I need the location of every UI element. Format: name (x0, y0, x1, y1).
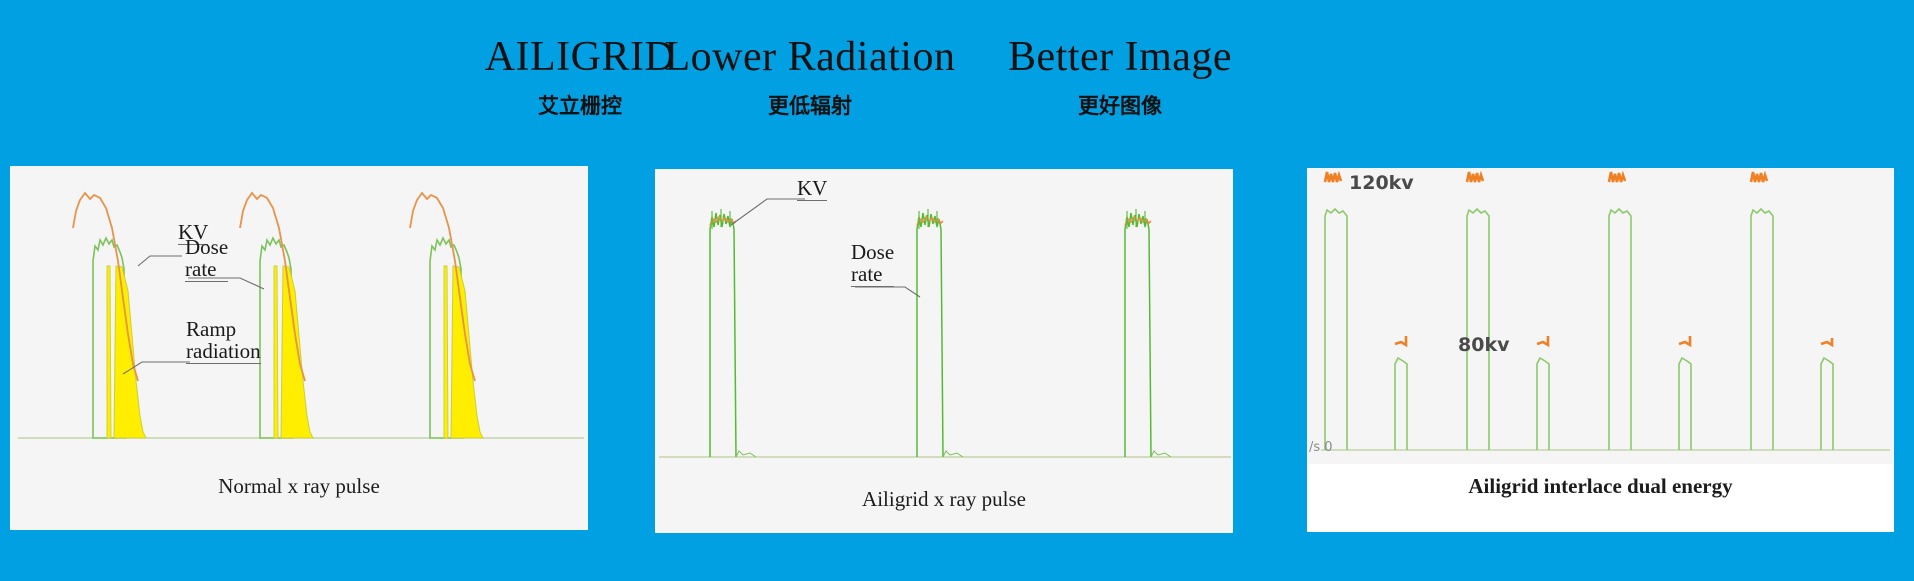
chart-ailigrid-x-ray-pulse: KV Dose rate (655, 169, 1233, 479)
leader-dose-rate (855, 287, 920, 297)
tail-3 (1151, 451, 1171, 457)
annotation-kv: KV (797, 177, 827, 201)
label-120kv: 120kv (1349, 172, 1414, 194)
header: AILIGRID 艾立栅控 Lower Radiation 更低辐射 Bette… (0, 0, 1914, 140)
ramp-radiation-3 (451, 266, 483, 438)
label-80kv: 80kv (1458, 334, 1509, 356)
marker-80kv-1 (1395, 336, 1406, 345)
header-title-lower-radiation: Lower Radiation (640, 36, 980, 78)
pulse-120kv-2 (1467, 209, 1489, 450)
header-title-better-image: Better Image (960, 36, 1280, 78)
ramp-radiation-1b (107, 266, 111, 438)
ramp-radiation-1 (114, 266, 146, 438)
ramp-radiation-2 (281, 266, 313, 438)
marker-80kv-2 (1537, 336, 1548, 345)
caption-ailigrid-interlace-dual-energy: Ailigrid interlace dual energy (1307, 474, 1894, 499)
pulse-80kv-2 (1537, 358, 1549, 450)
ramp-radiation-3b (444, 266, 448, 438)
header-group-lower-radiation: Lower Radiation 更低辐射 (640, 36, 980, 117)
annotation-dose-rate: Dose rate (851, 241, 894, 287)
pulse-120kv-3 (1609, 209, 1631, 450)
header-subtitle-lower-radiation: 更低辐射 (640, 96, 980, 117)
chart-normal-x-ray-pulse: KV Dose rate Ramp radiation (10, 166, 588, 466)
dose-rate-pulse-1 (710, 213, 736, 457)
leader-kv (138, 256, 182, 266)
panel-normal-x-ray-pulse: KV Dose rate Ramp radiation Normal x ray… (10, 166, 588, 530)
normal-pulse-svg (10, 166, 588, 466)
pulse-80kv-3 (1679, 358, 1691, 450)
marker-120kv-2 (1467, 172, 1483, 182)
pulse-80kv-1 (1395, 358, 1407, 450)
header-subtitle-better-image: 更好图像 (960, 96, 1280, 117)
marker-80kv-3 (1679, 336, 1690, 345)
tail-2 (943, 451, 963, 457)
ramp-radiation-2b (274, 266, 278, 438)
dose-rate-pulse-3 (1125, 213, 1151, 457)
marker-120kv-4 (1751, 172, 1767, 182)
axis-origin-label: /s 0 (1309, 440, 1333, 455)
caption-normal-x-ray-pulse: Normal x ray pulse (10, 474, 588, 499)
pulse-120kv-1 (1325, 209, 1347, 450)
caption-ailigrid-x-ray-pulse: Ailigrid x ray pulse (655, 487, 1233, 512)
tail-1 (736, 451, 756, 457)
marker-120kv-1 (1325, 172, 1341, 182)
interlace-svg (1307, 168, 1894, 468)
header-group-better-image: Better Image 更好图像 (960, 36, 1280, 117)
annotation-dose-rate: Dose rate (185, 236, 228, 282)
chart-ailigrid-interlace-dual-energy: 120kv 80kv /s 0 (1307, 168, 1894, 468)
pulse-120kv-4 (1751, 209, 1773, 450)
marker-120kv-3 (1609, 172, 1625, 182)
panel-ailigrid-interlace-dual-energy: 120kv 80kv /s 0 Ailigrid interlace dual … (1307, 168, 1894, 532)
panel-ailigrid-x-ray-pulse: KV Dose rate Ailigrid x ray pulse (655, 169, 1233, 533)
ailigrid-pulse-svg (655, 169, 1233, 479)
pulse-80kv-4 (1821, 358, 1833, 450)
marker-80kv-4 (1821, 338, 1832, 345)
leader-kv (731, 199, 805, 225)
annotation-ramp-radiation: Ramp radiation (186, 318, 261, 364)
dose-rate-pulse-2 (917, 213, 943, 457)
